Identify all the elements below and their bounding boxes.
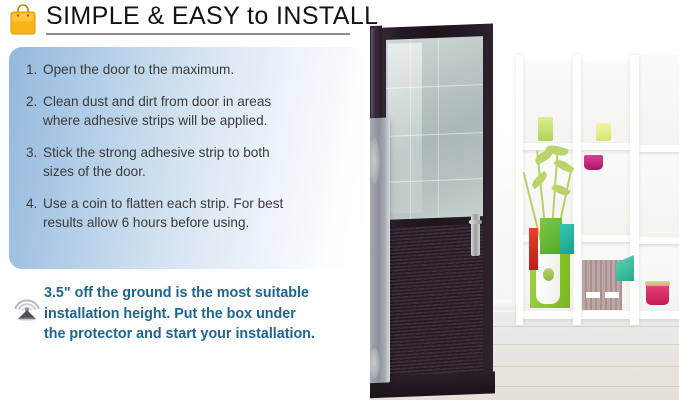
step-number: 2. xyxy=(26,93,43,112)
pink-pot-rim xyxy=(645,281,670,286)
installation-height-note: 3.5" off the ground is the most suitable… xyxy=(8,283,368,351)
magazine-file-label xyxy=(605,292,619,298)
step-line: Clean dust and dirt from door in areas xyxy=(43,93,356,112)
instruction-step-4: 4. Use a coin to flatten each strip. For… xyxy=(26,195,356,232)
louvered-lower-panel xyxy=(386,224,483,378)
signal-broadcast-icon xyxy=(11,287,43,321)
instructions-panel: 1. Open the door to the maximum. 2. Clea… xyxy=(9,47,364,269)
product-photo xyxy=(340,0,679,400)
step-number: 1. xyxy=(26,61,43,80)
step-line: Open the door to the maximum. xyxy=(43,61,356,80)
shopping-bag-icon xyxy=(9,4,37,35)
product-infographic: SIMPLE & EASY to INSTALL 1. Open the doo… xyxy=(0,0,679,400)
magenta-plant-pot xyxy=(584,155,603,170)
note-text: 3.5" off the ground is the most suitable… xyxy=(44,283,370,345)
step-line: results allow 6 hours before using. xyxy=(43,214,356,233)
instructions-column: SIMPLE & EASY to INSTALL 1. Open the doo… xyxy=(0,0,370,400)
note-line: the protector and start your installatio… xyxy=(44,324,370,345)
magazine-file-label xyxy=(586,292,600,298)
instruction-step-2: 2. Clean dust and dirt from door in area… xyxy=(26,93,356,130)
step-line: Use a coin to flatten each strip. For be… xyxy=(43,195,356,214)
step-number: 3. xyxy=(26,144,43,163)
frosted-glass-panel xyxy=(386,36,483,220)
note-line: installation height. Put the box under xyxy=(44,304,370,325)
green-drinking-glass xyxy=(538,117,553,141)
header: SIMPLE & EASY to INSTALL xyxy=(0,0,370,44)
teal-box-small xyxy=(560,224,574,254)
step-line: Stick the strong adhesive strip to both xyxy=(43,144,356,163)
pink-plant-pot xyxy=(646,283,669,305)
instruction-step-1: 1. Open the door to the maximum. xyxy=(26,61,356,80)
title-underline xyxy=(46,33,350,35)
note-line: 3.5" off the ground is the most suitable xyxy=(44,283,370,304)
green-box-small xyxy=(540,218,562,254)
step-number: 4. xyxy=(26,195,43,214)
instruction-step-3: 3. Stick the strong adhesive strip to bo… xyxy=(26,144,356,181)
step-line: where adhesive strips will be applied. xyxy=(43,112,356,131)
red-box xyxy=(529,228,538,270)
yellow-green-cup xyxy=(596,123,611,141)
page-title: SIMPLE & EASY to INSTALL xyxy=(46,2,378,31)
step-line: sizes of the door. xyxy=(43,163,356,182)
